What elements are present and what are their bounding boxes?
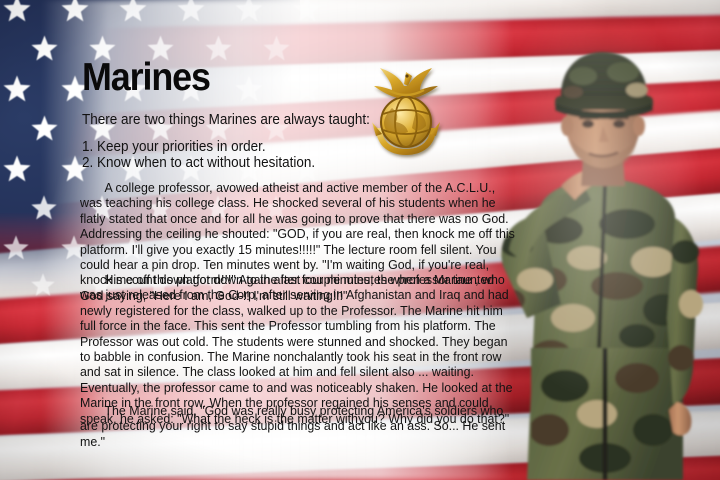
page-title: Marines [82, 56, 210, 100]
teachings-list: 1. Keep your priorities in order. 2. Kno… [82, 140, 473, 171]
lede-text: There are two things Marines are always … [82, 112, 473, 128]
list-item: 2. Know when to act without hesitation. [82, 156, 473, 172]
paragraph-text: The Marine said, "God was really busy pr… [80, 403, 505, 449]
story-paragraph-3: The Marine said, "God was really busy pr… [80, 403, 517, 449]
list-item: 1. Keep your priorities in order. [82, 140, 473, 156]
poster-text-content: Marines There are two things Marines are… [0, 0, 720, 480]
poster-canvas: Marines There are two things Marines are… [0, 0, 720, 480]
